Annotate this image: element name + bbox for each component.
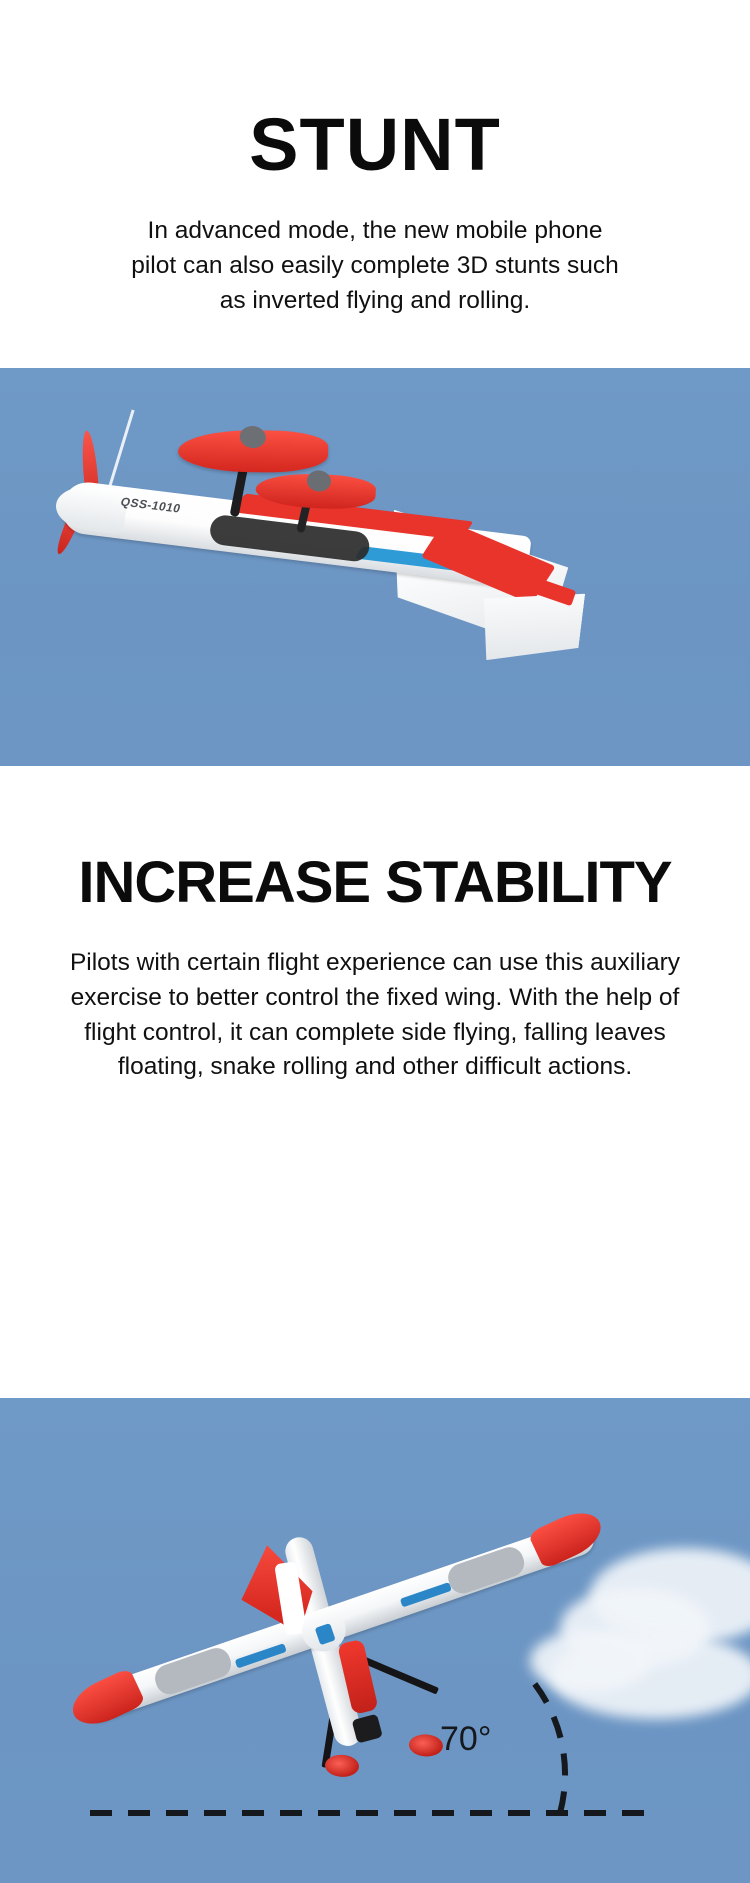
section-stunt-body: In advanced mode, the new mobile phone p… xyxy=(125,214,625,318)
page-title-increase-stability: INCREASE STABILITY xyxy=(0,854,750,912)
section-stunt: STUNT In advanced mode, the new mobile p… xyxy=(0,0,750,368)
page-title-stunt: STUNT xyxy=(0,108,750,182)
section-stability-body: Pilots with certain flight experience ca… xyxy=(55,946,695,1085)
antenna-icon xyxy=(107,409,135,492)
product-detail-page: STUNT In advanced mode, the new mobile p… xyxy=(0,0,750,1883)
angle-label: 70° xyxy=(440,1720,491,1759)
stability-photo: 70° xyxy=(0,1398,750,1883)
section-increase-stability: INCREASE STABILITY Pilots with certain f… xyxy=(0,766,750,1398)
fuselage-tail-tip xyxy=(352,1714,383,1744)
stunt-photo: QSS-1010 xyxy=(0,368,750,766)
